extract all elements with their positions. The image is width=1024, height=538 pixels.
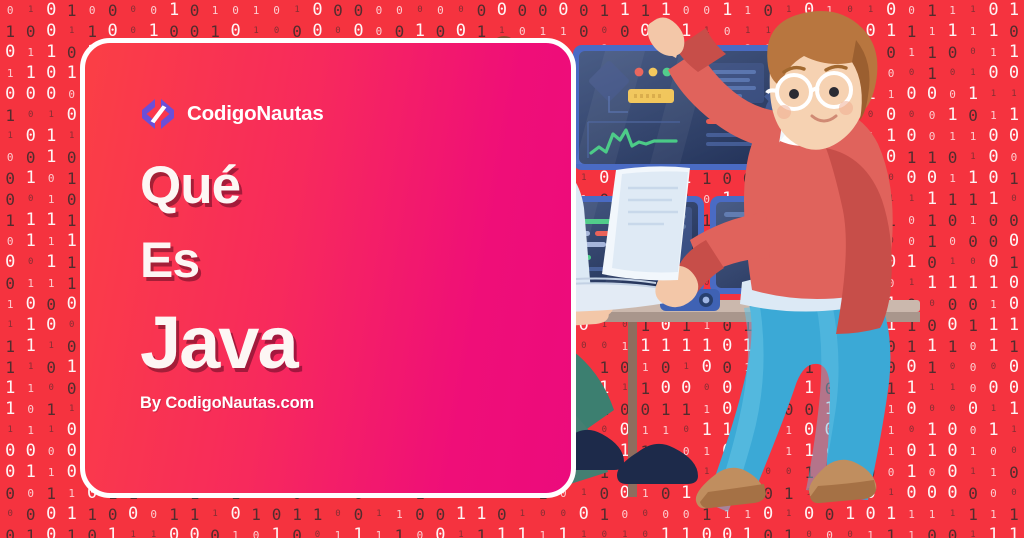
binary-digit: 0	[41, 297, 61, 313]
binary-digit: 0	[184, 3, 204, 19]
binary-digit: 1	[41, 44, 61, 61]
binary-digit: 1	[348, 527, 368, 538]
binary-digit: 1	[20, 233, 40, 250]
binary-digit: 1	[41, 128, 61, 145]
binary-digit: 0	[0, 44, 20, 61]
title-line-2: Es	[140, 236, 297, 285]
binary-digit: 0	[61, 45, 81, 61]
binary-digit: 1	[61, 528, 81, 538]
binary-digit: 1	[20, 278, 40, 289]
binary-digit: 1	[61, 276, 81, 292]
binary-digit: 1	[0, 360, 20, 376]
binary-digit: 1	[20, 425, 40, 436]
binary-digit: 1	[287, 6, 307, 15]
binary-digit: 1	[0, 213, 20, 229]
binary-digit: 1	[205, 510, 225, 519]
binary-digit: 1	[41, 486, 61, 502]
binary-digit: 1	[307, 507, 327, 523]
binary-digit: 1	[82, 507, 102, 523]
binary-digit: 1	[61, 488, 81, 499]
binary-digit: 0	[102, 507, 122, 523]
binary-digit: 0	[266, 5, 286, 16]
binary-digit: 1	[0, 426, 20, 435]
binary-digit: 1	[0, 108, 20, 124]
binary-digit: 1	[41, 236, 61, 247]
binary-digit: 0	[0, 443, 20, 460]
binary-digit: 1	[61, 171, 81, 187]
binary-digit: 0	[61, 464, 81, 481]
binary-digit: 1	[225, 530, 245, 538]
binary-digit: 0	[61, 321, 81, 330]
binary-digit: 0	[328, 3, 348, 19]
brand-logo[interactable]: CodigoNautas	[140, 96, 324, 132]
binary-digit: 0	[0, 276, 20, 292]
binary-digit: 1	[61, 233, 81, 250]
binary-digit: 1	[123, 531, 143, 538]
binary-digit: 1	[41, 278, 61, 289]
banner-canvas: 0101000010101010000000000000011110011010…	[0, 0, 1024, 538]
binary-digit: 0	[0, 5, 20, 16]
binary-digit: 0	[0, 171, 20, 187]
binary-digit: 0	[61, 443, 81, 460]
binary-digit: 1	[102, 527, 122, 538]
binary-digit: 0	[61, 381, 81, 397]
binary-digit: 0	[20, 86, 40, 103]
title-line-3: Java	[140, 307, 297, 380]
binary-digit: 0	[225, 5, 245, 16]
binary-digit: 1	[164, 2, 184, 19]
binary-digit: 0	[20, 443, 40, 460]
binary-digit: 1	[61, 359, 81, 376]
binary-digit: 1	[61, 213, 81, 229]
binary-digit: 0	[41, 23, 61, 40]
binary-digit: 1	[20, 338, 40, 355]
binary-digit: 0	[164, 527, 184, 538]
binary-digit: 0	[143, 5, 163, 16]
binary-digit: 0	[20, 258, 40, 267]
binary-digit: 1	[41, 402, 61, 418]
binary-digit: 0	[348, 3, 368, 19]
binary-digit: 0	[0, 510, 20, 519]
binary-digit: 1	[246, 5, 266, 16]
binary-digit: 1	[61, 506, 81, 523]
binary-digit: 1	[61, 3, 81, 19]
code-brackets-hexagon-icon	[140, 96, 176, 132]
binary-digit: 0	[20, 111, 40, 120]
binary-digit: 0	[61, 107, 81, 124]
binary-digit: 1	[0, 401, 20, 418]
binary-digit: 0	[0, 464, 20, 481]
binary-digit: 0	[246, 530, 266, 538]
binary-digit: 1	[41, 111, 61, 120]
binary-digit: 1	[41, 426, 61, 435]
binary-digit: 1	[20, 170, 40, 187]
binary-digit: 1	[287, 507, 307, 523]
binary-digit: 1	[20, 317, 40, 334]
binary-digit: 1	[61, 405, 81, 414]
binary-digit: 0	[41, 527, 61, 538]
binary-digit: 0	[20, 195, 40, 204]
binary-digit: 1	[20, 528, 40, 538]
binary-digit: 1	[61, 27, 81, 36]
binary-digit: 1	[41, 149, 61, 166]
binary-digit: 0	[0, 192, 20, 208]
binary-digit: 1	[41, 342, 61, 351]
binary-digit: 1	[164, 507, 184, 523]
binary-digit: 1	[61, 132, 81, 141]
binary-digit: 0	[266, 507, 286, 523]
binary-digit: 0	[123, 6, 143, 15]
papers	[602, 166, 690, 280]
binary-digit: 1	[20, 212, 40, 229]
binary-digit: 1	[0, 339, 20, 355]
binary-digit: 1	[266, 527, 286, 538]
binary-digit: 0	[0, 254, 20, 271]
binary-digit: 1	[41, 212, 61, 229]
binary-digit: 0	[41, 446, 61, 457]
binary-digit: 0	[41, 360, 61, 376]
binary-digit: 0	[348, 507, 368, 523]
binary-digit: 0	[225, 506, 245, 523]
binary-digit: 0	[41, 65, 61, 82]
binary-digit: 1	[184, 507, 204, 523]
binary-digit: 1	[246, 27, 266, 36]
binary-digit: 1	[0, 299, 20, 310]
binary-digit: 0	[41, 384, 61, 393]
binary-digit: 0	[123, 506, 143, 523]
binary-digit: 1	[61, 65, 81, 82]
binary-digit: 1	[20, 464, 40, 481]
binary-digit: 1	[205, 5, 225, 16]
binary-digit: 1	[41, 194, 61, 205]
binary-digit: 0	[61, 296, 81, 313]
binary-digit: 0	[61, 89, 81, 100]
binary-digit: 0	[184, 527, 204, 538]
binary-digit: 0	[0, 152, 20, 163]
title-line-1: Qué	[140, 160, 297, 212]
binary-digit: 0	[102, 3, 122, 19]
binary-digit: 0	[82, 528, 102, 538]
binary-digit: 1	[0, 24, 20, 40]
binary-digit: 1	[20, 6, 40, 15]
binary-digit: 0	[20, 24, 40, 40]
binary-digit: 1	[41, 467, 61, 478]
content-card: CodigoNautas Qué Es Java By CodigoNautas…	[80, 38, 576, 498]
binary-digit: 1	[20, 363, 40, 372]
binary-digit: 0	[205, 528, 225, 538]
binary-digit: 1	[0, 380, 20, 397]
binary-digit: 0	[0, 86, 20, 103]
binary-digit: 0	[20, 128, 40, 145]
binary-digit: 0	[41, 317, 61, 334]
binary-digit: 0	[123, 27, 143, 36]
page-title: Qué Es Java	[140, 160, 297, 379]
binary-digit: 1	[61, 255, 81, 271]
binary-digit: 0	[0, 236, 20, 247]
binary-digit: 1	[0, 68, 20, 79]
binary-digit: 1	[20, 383, 40, 394]
binary-digit: 0	[20, 150, 40, 166]
byline: By CodigoNautas.com	[140, 394, 314, 413]
binary-digit: 0	[143, 509, 163, 520]
binary-digit: 1	[0, 321, 20, 330]
binary-digit: 0	[307, 2, 327, 19]
binary-digit: 0	[20, 507, 40, 523]
binary-digit: 1	[246, 507, 266, 523]
binary-digit: 0	[41, 2, 61, 19]
binary-digit: 0	[82, 5, 102, 16]
binary-digit: 0	[0, 528, 20, 538]
binary-digit: 0	[61, 192, 81, 208]
binary-digit: 1	[0, 132, 20, 141]
binary-digit: 0	[307, 531, 327, 538]
binary-digit: 0	[41, 173, 61, 184]
binary-digit: 0	[328, 27, 348, 36]
binary-digit: 0	[41, 86, 61, 103]
binary-digit: 0	[20, 488, 40, 499]
binary-digit: 0	[0, 486, 20, 502]
binary-digit: 1	[20, 65, 40, 82]
binary-digit: 0	[20, 404, 40, 415]
binary-digit: 0	[61, 422, 81, 439]
binary-digit: 1	[143, 531, 163, 538]
binary-digit: 0	[20, 296, 40, 313]
binary-digit: 0	[61, 339, 81, 355]
binary-digit: 0	[328, 510, 348, 519]
binary-digit: 0	[266, 27, 286, 36]
binary-digit: 0	[287, 528, 307, 538]
binary-digit: 0	[61, 150, 81, 166]
binary-digit: 1	[328, 530, 348, 538]
brand-logo-text: CodigoNautas	[187, 102, 324, 126]
binary-digit: 0	[41, 506, 61, 523]
binary-digit: 1	[41, 254, 61, 271]
binary-digit: 1	[20, 47, 40, 58]
